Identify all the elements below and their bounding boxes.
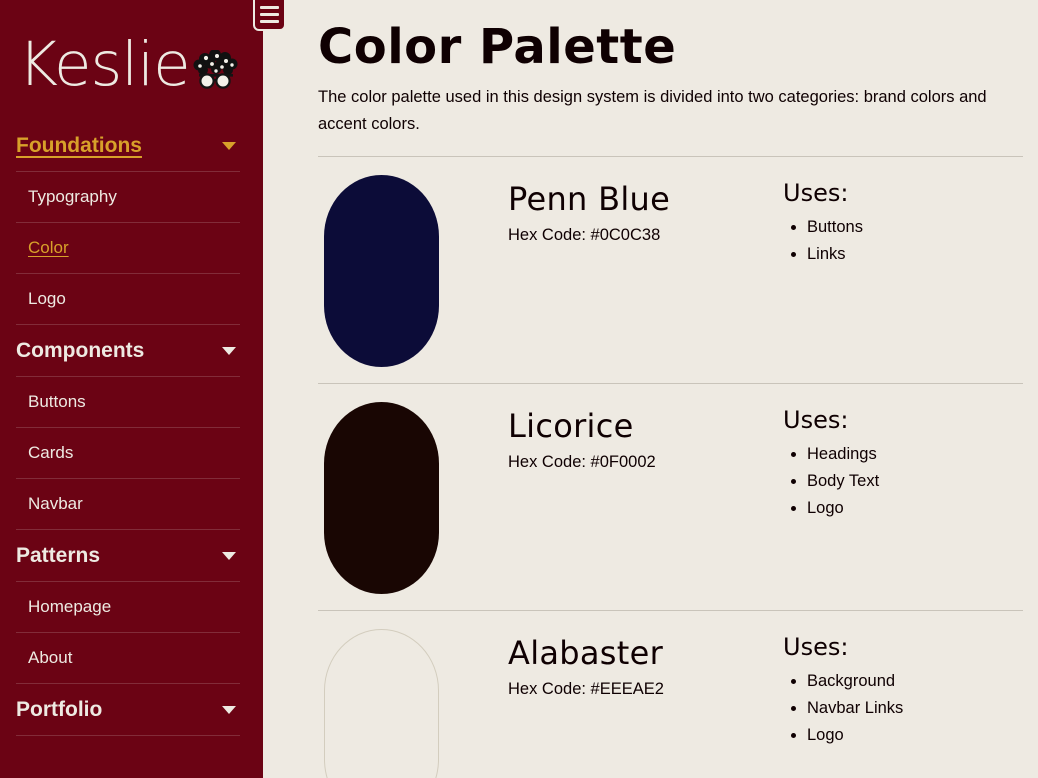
sidebar-group-patterns[interactable]: Patterns — [16, 530, 240, 582]
sidebar-item-about[interactable]: About — [16, 633, 240, 684]
swatch-cell — [318, 175, 508, 367]
list-item: Body Text — [807, 468, 879, 495]
swatch-cell — [318, 402, 508, 594]
sidebar-nav: Foundations Typography Color Logo Compon… — [0, 120, 263, 736]
brand-logo-text: Keslie — [18, 34, 190, 95]
list-item: Background — [807, 668, 903, 695]
sidebar-group-components-label: Components — [16, 340, 144, 361]
sidebar-group-foundations-label: Foundations — [16, 135, 142, 156]
sidebar-item-color[interactable]: Color — [16, 223, 240, 274]
sidebar-item-navbar[interactable]: Navbar — [16, 479, 240, 530]
color-swatch-alabaster — [324, 629, 439, 778]
sidebar-item-typography[interactable]: Typography — [16, 172, 240, 223]
uses-heading: Uses: — [783, 633, 903, 662]
page-description: The color palette used in this design sy… — [318, 84, 1028, 137]
list-item: Headings — [807, 441, 879, 468]
color-swatch-penn-blue — [324, 175, 439, 367]
sidebar-group-foundations[interactable]: Foundations — [16, 120, 240, 172]
sidebar-item-cards[interactable]: Cards — [16, 428, 240, 479]
sidebar-item-homepage[interactable]: Homepage — [16, 582, 240, 633]
sidebar-group-portfolio-label: Portfolio — [16, 699, 102, 720]
list-item: Logo — [807, 722, 903, 749]
list-item: Logo — [807, 495, 879, 522]
sidebar-item-buttons-label: Buttons — [28, 392, 86, 412]
sidebar-item-color-label: Color — [28, 238, 69, 258]
color-name: Licorice — [508, 408, 783, 445]
color-info: Penn Blue Hex Code: #0C0C38 — [508, 175, 783, 245]
chevron-down-icon[interactable] — [222, 706, 236, 714]
color-row: Penn Blue Hex Code: #0C0C38 Uses: Button… — [318, 156, 1023, 383]
sidebar-item-buttons[interactable]: Buttons — [16, 377, 240, 428]
uses-heading: Uses: — [783, 179, 863, 208]
swatch-cell — [318, 629, 508, 778]
list-item: Buttons — [807, 214, 863, 241]
chevron-down-icon[interactable] — [222, 142, 236, 150]
color-uses: Uses: Buttons Links — [783, 175, 863, 268]
sidebar-group-components[interactable]: Components — [16, 325, 240, 377]
color-name: Penn Blue — [508, 181, 783, 218]
page-title: Color Palette — [318, 22, 1028, 72]
sidebar-item-about-label: About — [28, 648, 72, 668]
keslie-face-mark-icon — [192, 50, 240, 94]
color-uses: Uses: Background Navbar Links Logo — [783, 629, 903, 749]
chevron-down-icon[interactable] — [222, 552, 236, 560]
sidebar-item-logo[interactable]: Logo — [16, 274, 240, 325]
color-hex-code: Hex Code: #EEEAE2 — [508, 680, 783, 699]
sidebar-item-logo-label: Logo — [28, 289, 66, 309]
uses-list: Headings Body Text Logo — [783, 441, 879, 522]
color-name: Alabaster — [508, 635, 783, 672]
color-info: Alabaster Hex Code: #EEEAE2 — [508, 629, 783, 699]
list-item: Links — [807, 241, 863, 268]
sidebar: Keslie — [0, 0, 263, 778]
app-root: Keslie — [0, 0, 1038, 778]
sidebar-item-homepage-label: Homepage — [28, 597, 111, 617]
sidebar-item-typography-label: Typography — [28, 187, 117, 207]
hamburger-icon-bar — [260, 6, 279, 9]
uses-list: Background Navbar Links Logo — [783, 668, 903, 749]
sidebar-item-cards-label: Cards — [28, 443, 73, 463]
main-content: Color Palette The color palette used in … — [263, 0, 1038, 778]
list-item: Navbar Links — [807, 695, 903, 722]
color-info: Licorice Hex Code: #0F0002 — [508, 402, 783, 472]
hamburger-icon-bar — [260, 13, 279, 16]
color-row: Alabaster Hex Code: #EEEAE2 Uses: Backgr… — [318, 610, 1023, 778]
color-palette-list: Penn Blue Hex Code: #0C0C38 Uses: Button… — [318, 156, 1023, 778]
chevron-down-icon[interactable] — [222, 347, 236, 355]
brand-logo[interactable]: Keslie — [0, 8, 263, 120]
color-swatch-licorice — [324, 402, 439, 594]
uses-list: Buttons Links — [783, 214, 863, 268]
sidebar-group-portfolio[interactable]: Portfolio — [16, 684, 240, 736]
hamburger-icon-bar — [260, 20, 279, 23]
color-row: Licorice Hex Code: #0F0002 Uses: Heading… — [318, 383, 1023, 610]
sidebar-group-patterns-label: Patterns — [16, 545, 100, 566]
sidebar-item-navbar-label: Navbar — [28, 494, 83, 514]
color-uses: Uses: Headings Body Text Logo — [783, 402, 879, 522]
menu-toggle-button[interactable] — [253, 0, 286, 31]
color-hex-code: Hex Code: #0C0C38 — [508, 226, 783, 245]
uses-heading: Uses: — [783, 406, 879, 435]
color-hex-code: Hex Code: #0F0002 — [508, 453, 783, 472]
